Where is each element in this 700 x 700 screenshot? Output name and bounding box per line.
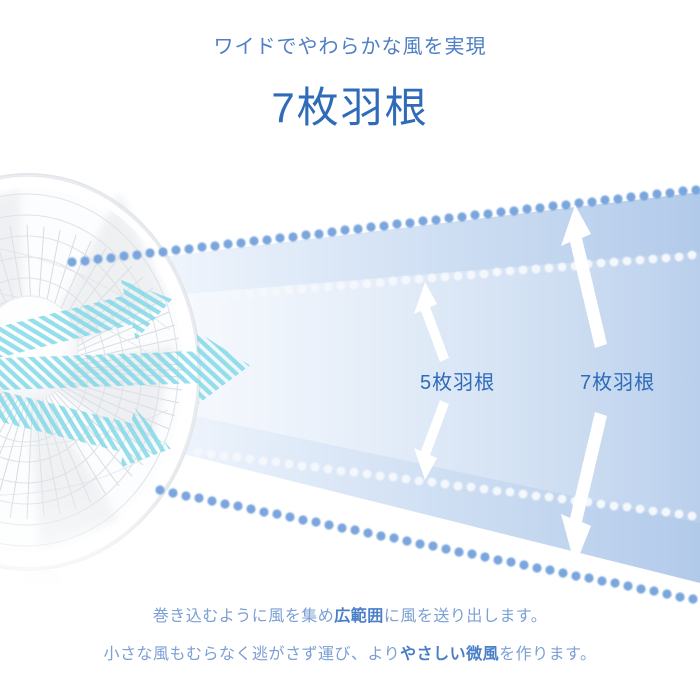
footer-line-2-pre: 小さな風もむらなく逃がさず運び、より <box>103 646 400 663</box>
measure-label-five-blade: 5枚羽根 <box>420 366 495 395</box>
footer-line-1-pre: 巻き込むように風を集め <box>153 608 335 625</box>
measure-label-seven-blade: 7枚羽根 <box>580 366 655 395</box>
footer-line-2-post: を作ります。 <box>499 646 596 663</box>
footer-line-2: 小さな風もむらなく逃がさず運び、よりやさしい微風を作ります。 <box>0 640 700 664</box>
footer-line-1-bold: 広範囲 <box>334 608 384 625</box>
footer-line-1: 巻き込むように風を集め広範囲に風を送り出します。 <box>0 602 700 626</box>
footer-line-2-bold: やさしい微風 <box>400 646 499 663</box>
footer-line-1-post: に風を送り出します。 <box>384 608 547 625</box>
promo-graphic-page: ワイドでやわらかな風を実現 7枚羽根 <box>0 0 700 700</box>
airflow-diagram <box>0 0 700 700</box>
